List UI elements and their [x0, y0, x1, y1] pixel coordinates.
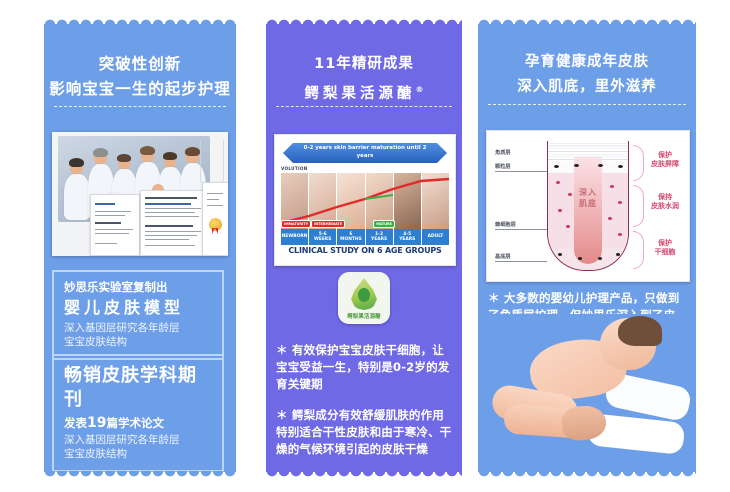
panel-top-scallop — [266, 18, 462, 25]
tag-slot — [397, 219, 423, 228]
age-label-line2: MONTHS — [340, 237, 362, 242]
heading-line1: 孕育健康成年皮肤 — [478, 52, 696, 73]
bullet-item: ＊ 有效保护宝宝皮肤干细胞，让宝宝受益一生，特别是0-2岁的发育关键期 — [276, 342, 452, 393]
journal-sub2: 宝宝皮肤结构 — [64, 447, 212, 461]
publish-count: 19 — [87, 415, 106, 431]
panel-skin-layers-body: 孕育健康成年皮肤 深入肌底，里外滋养 深入 肌底 — [478, 24, 696, 472]
skin-model-card: 妙思乐实验室复制出 婴儿皮肤模型 深入基因层研究各年龄层 宝宝皮肤结构 — [52, 270, 224, 360]
journal-article-document — [140, 190, 208, 256]
avocado-pit-icon — [358, 288, 370, 302]
panel-avocado-heading: 11年精研成果 鳄梨果活源醣® — [266, 54, 462, 105]
age-label-6-months: 6MONTHS — [337, 229, 365, 245]
panel-research: 突破性创新 影响宝宝一生的起步护理 — [44, 18, 236, 478]
layer-label-corneum: 角质层 — [495, 149, 511, 156]
heading-divider — [488, 104, 686, 105]
heading-line2-text: 鳄梨果活源醣 — [305, 86, 416, 102]
chart-axis-label: VOLUTION — [281, 166, 308, 171]
bullet-item: ＊ 鳄梨成分有效舒缓肌肤的作用特别适合干性皮肤和由于寒冷、干燥的气候环境引起的皮… — [276, 407, 452, 458]
publish-suffix: 篇学术论文 — [106, 416, 164, 430]
logo-caption: 鳄梨果活源醣 — [338, 312, 390, 320]
maturity-tag-row: IMMATURITY INTERMEDIATE MATURE — [281, 219, 449, 228]
age-label-line2: YEARS — [371, 237, 387, 242]
journal-publish-line: 发表19篇学术论文 — [64, 415, 212, 431]
journal-sub1: 深入基因层研究各年龄层 — [64, 433, 212, 447]
age-label-adult: ADULT — [422, 229, 449, 245]
benefit-label-hydration: 保持 皮肤水润 — [645, 193, 685, 211]
skin-model-sub1: 深入基因层研究各年龄层 — [64, 321, 212, 335]
core-label-line1: 深入 — [579, 188, 597, 197]
core-label: 深入 肌底 — [548, 187, 628, 209]
tag-slot: MATURE — [371, 219, 397, 228]
panel-bottom-scallop — [44, 471, 236, 478]
baby-hair — [618, 316, 662, 346]
skin-model-title: 婴儿皮肤模型 — [64, 297, 212, 319]
panel-top-scallop — [44, 18, 236, 25]
benefit-brace — [633, 185, 644, 227]
panel-avocado: 11年精研成果 鳄梨果活源醣® 0-2 years skin barrier m… — [266, 18, 462, 478]
banner-text: 0-2 years skin barrier maturation until … — [297, 144, 433, 160]
maturation-banner: 0-2 years skin barrier maturation until … — [281, 141, 449, 165]
research-collage-image — [52, 132, 228, 256]
age-label-4-5-years: 4-5YEARS — [394, 229, 422, 245]
heading-line1: 11年精研成果 — [266, 54, 462, 75]
registered-mark: ® — [416, 85, 424, 94]
age-group-labels: NEWBORN 5-6WEEKS 6MONTHS 1-2YEARS 4-5YEA… — [281, 229, 449, 245]
panel-skin-layers: 孕育健康成年皮肤 深入肌底，里外滋养 深入 肌底 — [478, 18, 696, 478]
tag-mature: MATURE — [373, 220, 395, 228]
benefit-brace — [633, 145, 644, 181]
skin-cross-section-diagram: 深入 肌底 — [486, 130, 690, 282]
age-label-line2: YEARS — [399, 237, 415, 242]
benefit-line1: 保持 — [658, 193, 672, 201]
heading-line2: 影响宝宝一生的起步护理 — [44, 79, 236, 100]
avocado-drop-logo: 鳄梨果活源醣 — [338, 272, 390, 324]
age-label-line1: ADULT — [428, 234, 444, 239]
layer-label-granular: 颗粒层 — [495, 163, 511, 170]
layer-leader-line — [495, 229, 547, 230]
panel-top-scallop — [478, 18, 696, 25]
benefit-label-stemcell: 保护 干细胞 — [645, 239, 685, 257]
benefit-line1: 保护 — [658, 151, 672, 159]
avocado-bullets: ＊ 有效保护宝宝皮肤干细胞，让宝宝受益一生，特别是0-2岁的发育关键期 ＊ 鳄梨… — [276, 342, 452, 472]
benefit-line1: 保护 — [658, 239, 672, 247]
panel-bottom-scallop — [478, 471, 696, 478]
baby-photo — [478, 314, 696, 472]
tag-slot: IMMATURITY — [281, 219, 311, 228]
skin-model-lab: 妙思乐实验室复制出 — [64, 280, 212, 295]
heading-divider — [276, 106, 452, 107]
panel-research-body: 突破性创新 影响宝宝一生的起步护理 — [44, 24, 236, 472]
journal-card: 畅销皮肤学科期刊 发表19篇学术论文 深入基因层研究各年龄层 宝宝皮肤结构 — [52, 354, 224, 472]
layer-leader-line — [495, 171, 547, 172]
layer-leader-line — [495, 261, 547, 262]
certificate-document — [90, 194, 140, 256]
age-label-1-2-years: 1-2YEARS — [366, 229, 394, 245]
clinical-study-chart: 0-2 years skin barrier maturation until … — [274, 134, 456, 266]
tag-immaturity: IMMATURITY — [281, 220, 311, 228]
core-label-line2: 肌底 — [579, 199, 597, 208]
benefit-line2: 皮肤屏障 — [651, 160, 679, 168]
publish-prefix: 发表 — [64, 416, 87, 430]
panel-bottom-scallop — [266, 471, 462, 478]
age-label-newborn: NEWBORN — [281, 229, 309, 245]
layer-label-basal: 基底层 — [495, 253, 511, 260]
tag-slot — [345, 219, 371, 228]
panel-skin-heading: 孕育健康成年皮肤 深入肌底，里外滋养 — [478, 52, 696, 98]
skin-outline: 深入 肌底 — [547, 141, 629, 271]
heading-line2: 深入肌底，里外滋养 — [478, 77, 696, 98]
age-label-5-6-weeks: 5-6WEEKS — [309, 229, 337, 245]
panel-research-heading: 突破性创新 影响宝宝一生的起步护理 — [44, 54, 236, 100]
tag-slot: INTERMEDIATE — [311, 219, 345, 228]
skin-model-sub2: 宝宝皮肤结构 — [64, 335, 212, 349]
penetration-core — [574, 157, 602, 264]
benefit-brace — [633, 231, 644, 269]
infographic-page: 突破性创新 影响宝宝一生的起步护理 — [0, 0, 730, 492]
age-label-line1: NEWBORN — [282, 234, 308, 239]
heading-line1: 突破性创新 — [44, 54, 236, 75]
panel-avocado-body: 11年精研成果 鳄梨果活源醣® 0-2 years skin barrier m… — [266, 24, 462, 472]
tag-intermediate: INTERMEDIATE — [311, 220, 345, 228]
benefit-label-barrier: 保护 皮肤屏障 — [645, 151, 685, 169]
chart-caption: CLINICAL STUDY ON 6 AGE GROUPS — [275, 246, 455, 255]
tag-slot — [423, 219, 449, 228]
journal-title: 畅销皮肤学科期刊 — [64, 364, 212, 412]
award-ribbon-icon — [209, 218, 222, 231]
heading-line2: 鳄梨果活源醣® — [266, 79, 462, 105]
layer-label-spinous: 棘细胞层 — [495, 221, 516, 228]
benefit-line2: 干细胞 — [655, 248, 676, 256]
beaker-icon — [200, 140, 224, 185]
benefit-line2: 皮肤水润 — [651, 202, 679, 210]
age-label-line2: WEEKS — [314, 237, 331, 242]
heading-divider — [54, 106, 226, 107]
skin-structure-graphic: 深入 肌底 — [547, 141, 629, 271]
